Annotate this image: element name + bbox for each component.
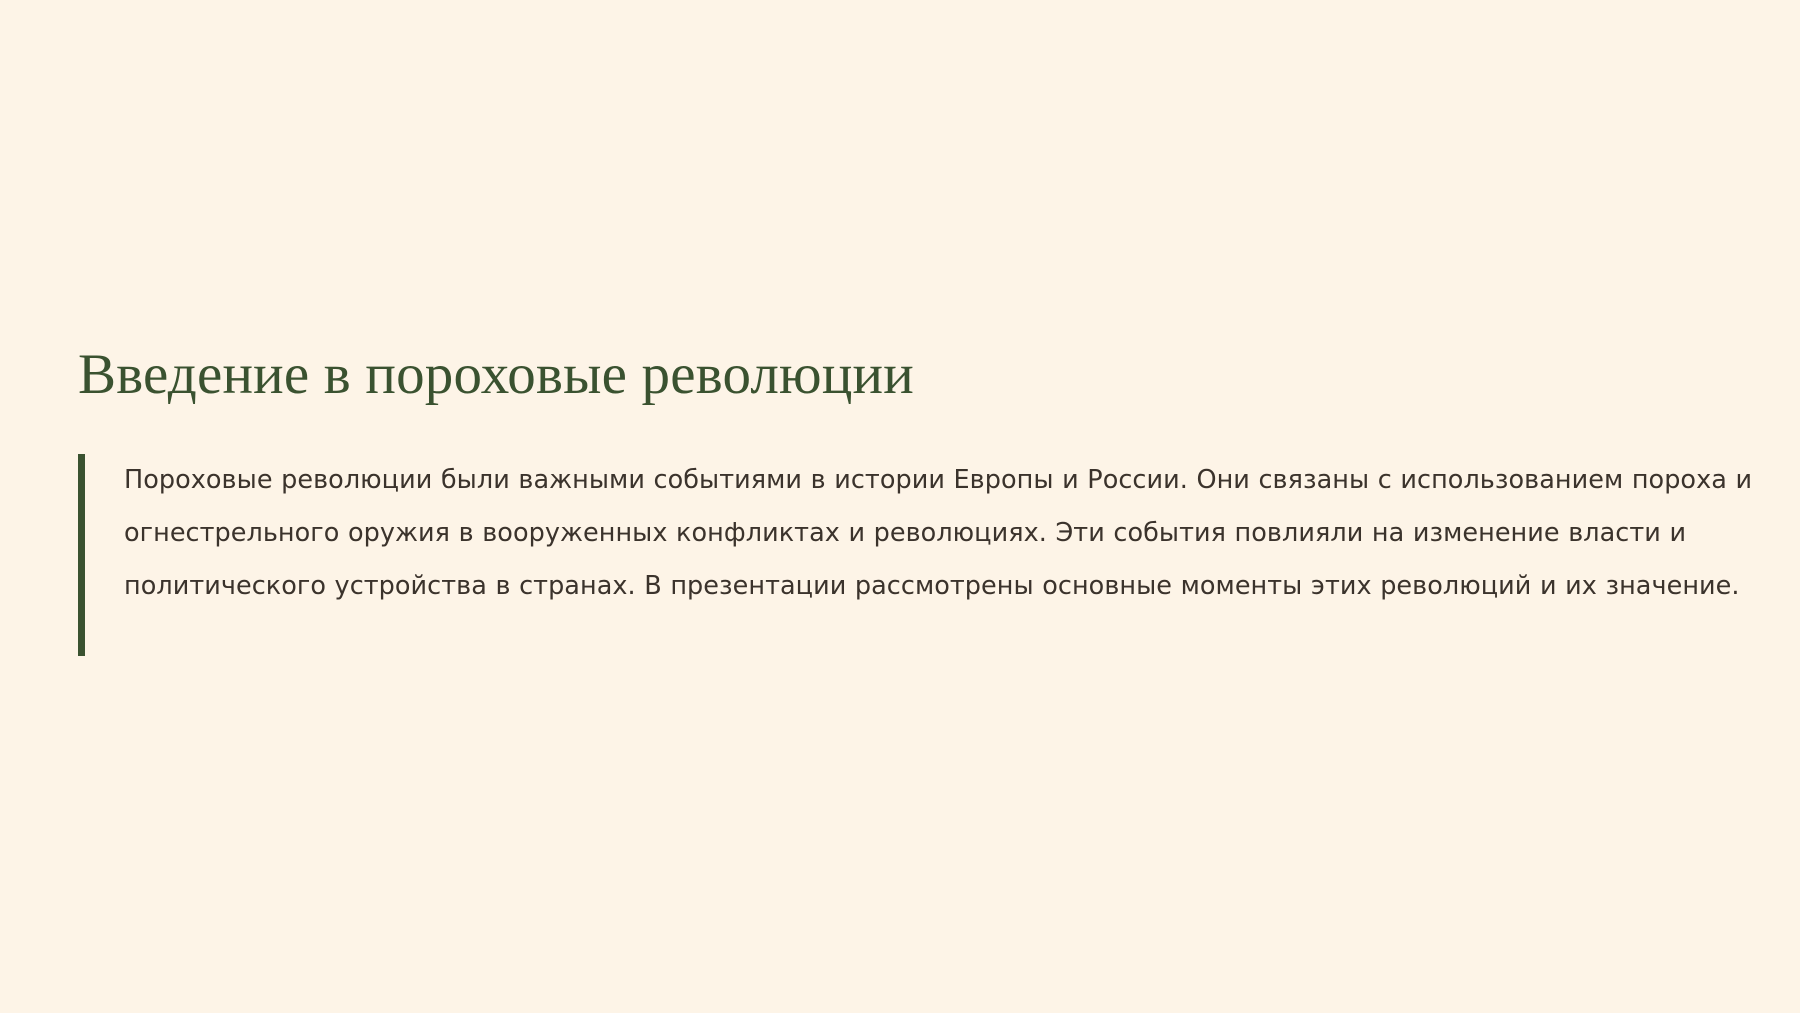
presentation-slide: Введение в пороховые революции Пороховые… (0, 0, 1800, 1013)
accent-bar (78, 454, 85, 656)
slide-content-block: Введение в пороховые революции Пороховые… (78, 343, 1758, 613)
body-paragraph: Пороховые революции были важными события… (124, 454, 1754, 613)
body-section: Пороховые революции были важными события… (78, 454, 1758, 613)
page-title: Введение в пороховые революции (78, 343, 1758, 407)
